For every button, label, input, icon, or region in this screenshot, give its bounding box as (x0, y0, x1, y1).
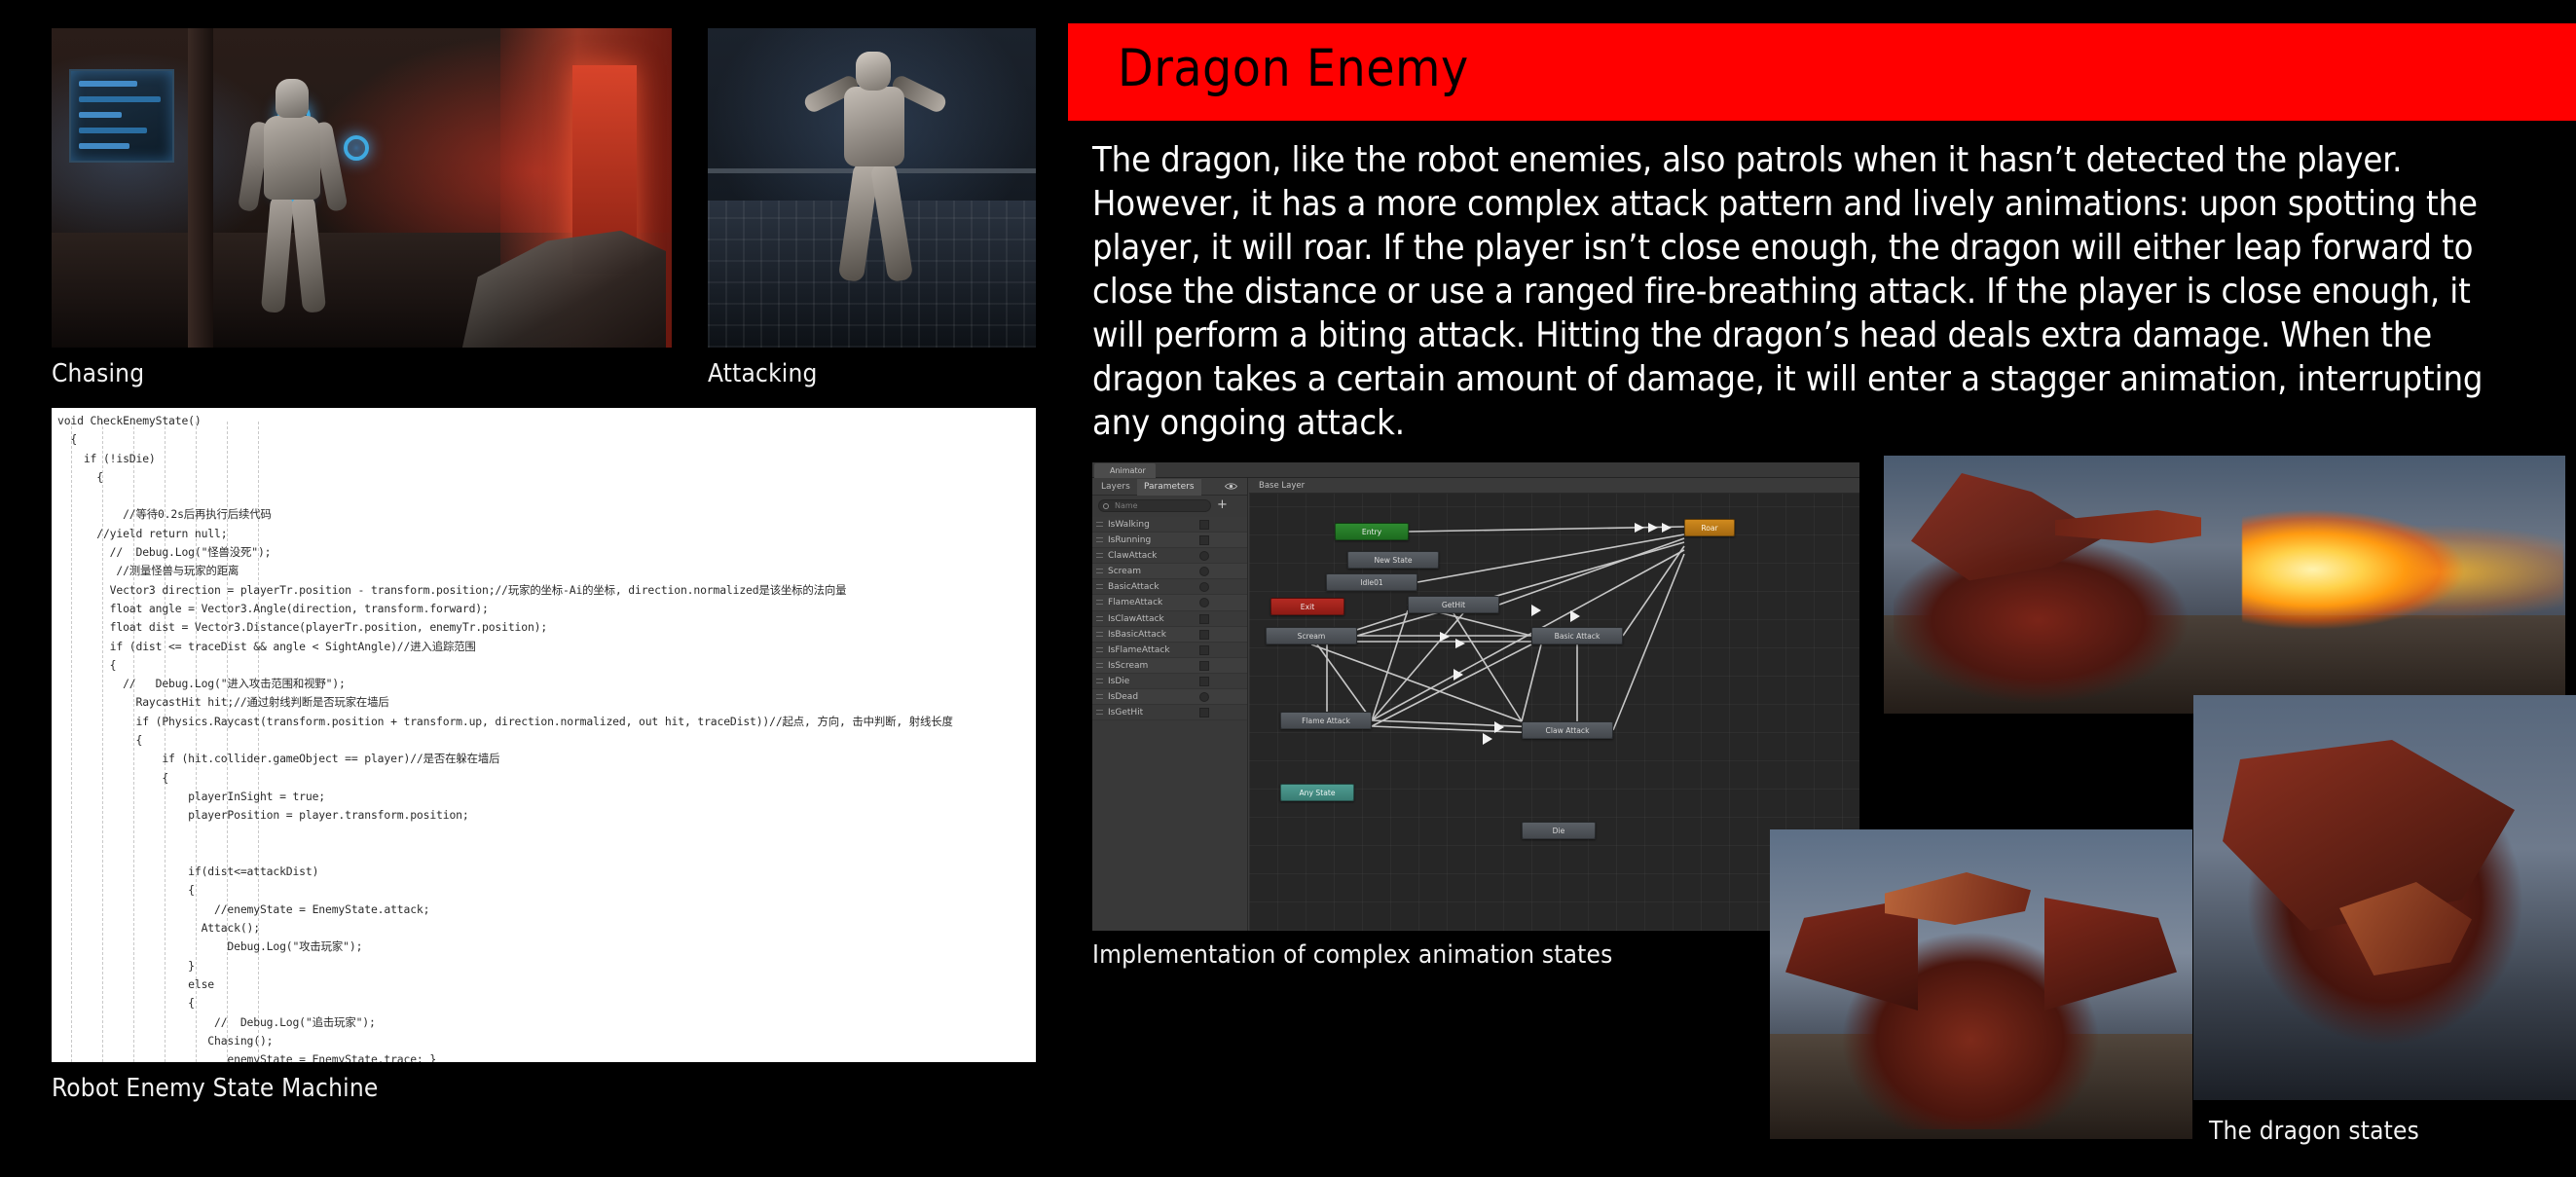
parameter-row[interactable]: IsScream (1092, 658, 1247, 674)
robot-enemy (801, 52, 947, 285)
drag-handle-icon[interactable] (1096, 537, 1103, 542)
animator-state-graph[interactable]: Base Layer (1249, 478, 1859, 931)
console-panel-icon (69, 69, 174, 163)
body-paragraph: The dragon, like the robot enemies, also… (1092, 138, 2510, 445)
state-node[interactable]: Flame Attack (1280, 712, 1372, 729)
parameter-list: IsWalkingIsRunningClawAttackScreamBasicA… (1092, 517, 1247, 931)
parameter-row[interactable]: Scream (1092, 564, 1247, 579)
parameter-name: BasicAttack (1108, 579, 1159, 595)
source-code: void CheckEnemyState() { if (!isDie) { /… (52, 408, 953, 1062)
state-node[interactable]: Exit (1270, 598, 1344, 615)
caption-robot-state-machine: Robot Enemy State Machine (52, 1074, 378, 1103)
page-title: Dragon Enemy (1118, 43, 1469, 94)
parameter-row[interactable]: IsRunning (1092, 533, 1247, 548)
robot-enemy (233, 79, 351, 322)
state-node[interactable]: Basic Attack (1531, 627, 1623, 644)
caption-attacking: Attacking (708, 359, 818, 388)
bool-checkbox[interactable] (1199, 520, 1209, 530)
parameter-search-input[interactable]: Name (1098, 499, 1211, 512)
slide-root: Chasing Attacking void CheckEnemyState()… (0, 0, 2576, 1177)
animator-tab-row: Animator (1092, 462, 1859, 478)
screenshot-dragon-front (1770, 829, 2192, 1139)
drag-handle-icon[interactable] (1096, 600, 1103, 605)
breadcrumb[interactable]: Base Layer (1249, 478, 1859, 494)
add-parameter-button[interactable]: + (1217, 498, 1228, 511)
state-node[interactable]: Scream (1266, 627, 1357, 644)
drag-handle-icon[interactable] (1096, 710, 1103, 715)
parameter-name: IsFlameAttack (1108, 643, 1170, 658)
transition-arrows (1249, 478, 1859, 931)
state-node[interactable]: GetHit (1408, 596, 1499, 613)
eye-icon[interactable] (1225, 482, 1237, 491)
code-screenshot: void CheckEnemyState() { if (!isDie) { /… (52, 408, 1036, 1062)
caption-animator: Implementation of complex animation stat… (1092, 940, 1613, 970)
state-node[interactable]: Any State (1280, 784, 1354, 801)
drag-handle-icon[interactable] (1096, 647, 1103, 652)
drag-handle-icon[interactable] (1096, 584, 1103, 589)
drag-handle-icon[interactable] (1096, 694, 1103, 699)
parameter-name: Scream (1108, 564, 1141, 579)
parameter-row[interactable]: IsGetHit (1092, 705, 1247, 720)
screenshot-dragon-flame-attack (1884, 456, 2565, 714)
trigger-radio[interactable] (1199, 598, 1209, 607)
bool-checkbox[interactable] (1199, 645, 1209, 655)
caption-chasing: Chasing (52, 359, 144, 388)
tab-animator[interactable]: Animator (1094, 463, 1156, 478)
drag-handle-icon[interactable] (1096, 632, 1103, 637)
state-node[interactable]: Idle01 (1326, 573, 1417, 591)
unity-animator-window[interactable]: Animator Layers Parameters Name + IsWalk… (1092, 462, 1859, 931)
state-node[interactable]: Claw Attack (1522, 721, 1613, 739)
parameter-name: IsGetHit (1108, 705, 1143, 720)
fire-breath-icon (2242, 497, 2563, 643)
drag-handle-icon[interactable] (1096, 569, 1103, 573)
parameter-name: FlameAttack (1108, 595, 1162, 610)
bool-checkbox[interactable] (1199, 614, 1209, 624)
parameter-row[interactable]: FlameAttack (1092, 595, 1247, 610)
drag-handle-icon[interactable] (1096, 522, 1103, 527)
parameter-name: IsWalking (1108, 517, 1150, 533)
screenshot-chasing (52, 28, 672, 348)
bool-checkbox[interactable] (1199, 535, 1209, 545)
corridor-pillar (188, 28, 213, 348)
parameter-row[interactable]: IsWalking (1092, 517, 1247, 533)
parameter-row[interactable]: IsFlameAttack (1092, 643, 1247, 658)
tab-parameters[interactable]: Parameters (1137, 479, 1201, 496)
trigger-radio[interactable] (1199, 567, 1209, 576)
drag-handle-icon[interactable] (1096, 663, 1103, 668)
animator-side-panel: Layers Parameters Name + IsWalkingIsRunn… (1092, 478, 1248, 931)
bool-checkbox[interactable] (1199, 630, 1209, 640)
drag-handle-icon[interactable] (1096, 679, 1103, 683)
caption-dragon-states: The dragon states (2209, 1117, 2419, 1146)
trigger-radio[interactable] (1199, 582, 1209, 592)
parameter-name: IsRunning (1108, 533, 1151, 548)
parameter-row[interactable]: IsDie (1092, 674, 1247, 689)
trigger-radio[interactable] (1199, 551, 1209, 561)
parameter-row[interactable]: IsBasicAttack (1092, 627, 1247, 643)
bool-checkbox[interactable] (1199, 661, 1209, 671)
search-icon (1103, 503, 1109, 509)
state-node[interactable]: Entry (1335, 523, 1409, 540)
tab-layers[interactable]: Layers (1094, 479, 1137, 496)
parameter-name: ClawAttack (1108, 548, 1157, 564)
animator-subtab-row: Layers Parameters (1092, 478, 1247, 496)
bool-checkbox[interactable] (1199, 677, 1209, 686)
parameter-name: IsBasicAttack (1108, 627, 1166, 643)
parameter-row[interactable]: IsClawAttack (1092, 611, 1247, 627)
parameter-name: IsDie (1108, 674, 1129, 689)
drag-handle-icon[interactable] (1096, 616, 1103, 621)
parameter-row[interactable]: BasicAttack (1092, 579, 1247, 595)
screenshot-dragon-perched (2193, 695, 2576, 1100)
bool-checkbox[interactable] (1199, 708, 1209, 717)
parameter-name: IsClawAttack (1108, 611, 1164, 627)
state-node[interactable]: Roar (1684, 519, 1735, 536)
parameter-row[interactable]: IsDead (1092, 689, 1247, 705)
trigger-radio[interactable] (1199, 692, 1209, 702)
state-node[interactable]: New State (1347, 551, 1439, 569)
drag-handle-icon[interactable] (1096, 553, 1103, 558)
parameter-name: IsScream (1108, 658, 1148, 674)
parameter-name: IsDead (1108, 689, 1138, 705)
parameter-row[interactable]: ClawAttack (1092, 548, 1247, 564)
screenshot-attacking (708, 28, 1036, 348)
state-node[interactable]: Die (1522, 822, 1596, 839)
